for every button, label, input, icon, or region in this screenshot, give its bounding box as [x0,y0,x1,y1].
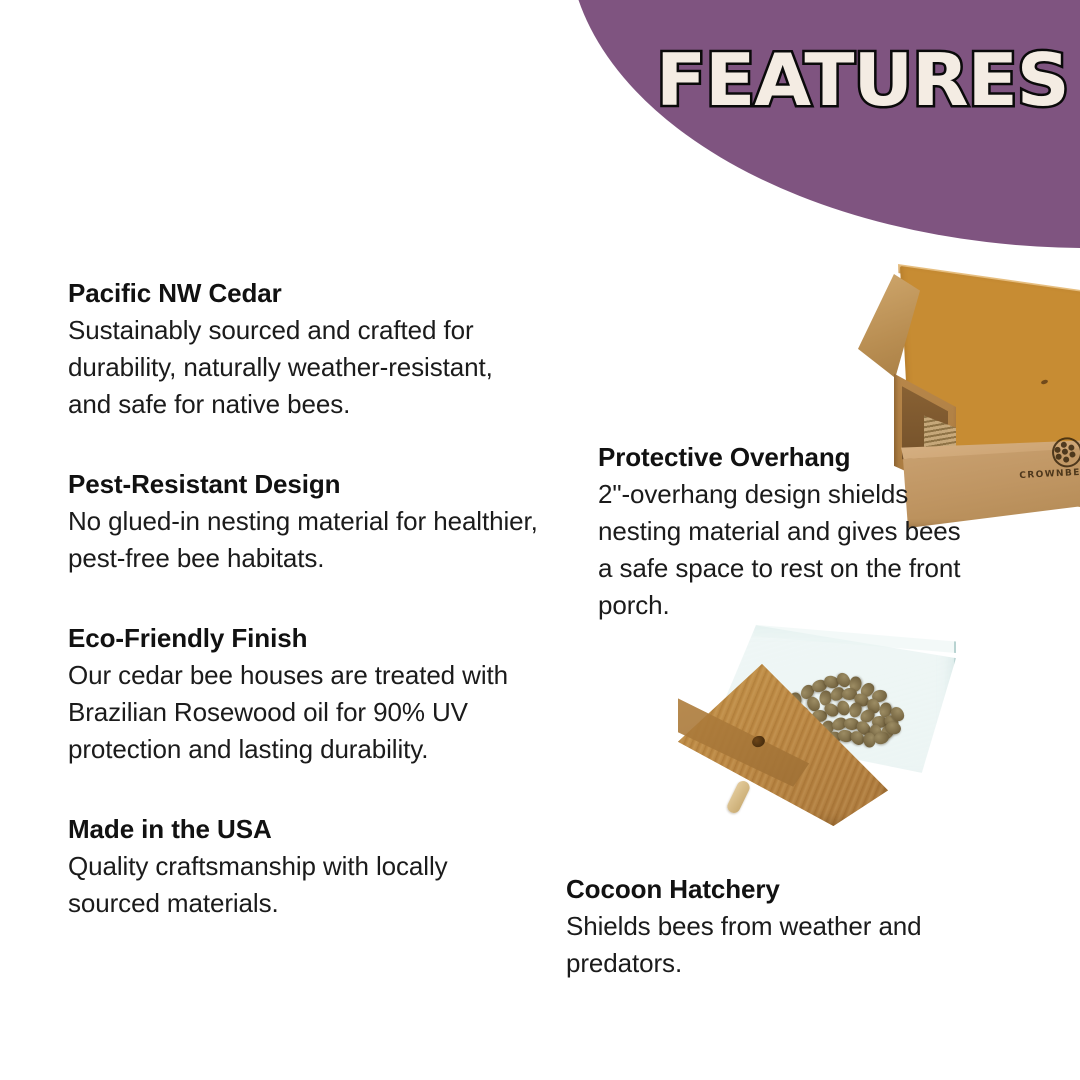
feature-block-made-in-the-usa: Made in the USA Quality craftsmanship wi… [68,812,538,922]
feature-heading: Pacific NW Cedar [68,276,538,310]
feature-body: Shields bees from weather and predators. [566,908,986,982]
feature-body: Sustainably sourced and crafted for dura… [68,312,538,423]
feature-heading: Pest-Resistant Design [68,467,538,501]
feature-body: Quality craftsmanship with locally sourc… [68,848,538,922]
page-title: FEATURES [656,44,1064,116]
feature-heading: Made in the USA [68,812,538,846]
feature-block-pest-resistant-design: Pest-Resistant Design No glued-in nestin… [68,467,538,577]
feature-body: No glued-in nesting material for healthi… [68,503,538,577]
feature-heading: Cocoon Hatchery [566,872,986,906]
feature-body: 2"-overhang design shields nesting mater… [598,476,970,624]
hatchery-dowel-peg [725,779,752,815]
feature-block-cocoon-hatchery: Cocoon Hatchery Shields bees from weathe… [566,872,986,982]
feature-heading: Eco-Friendly Finish [68,621,538,655]
brand-wordmark: CROWNBEES [1019,467,1080,481]
left-feature-column: Pacific NW Cedar Sustainably sourced and… [68,276,538,922]
feature-heading: Protective Overhang [598,440,970,474]
feature-block-eco-friendly-finish: Eco-Friendly Finish Our cedar bee houses… [68,621,538,768]
features-page: FEATURES CROWNBEES Pacific NW Cedar [0,0,1080,1080]
feature-block-protective-overhang: Protective Overhang 2"-overhang design s… [598,440,970,624]
feature-block-pacific-nw-cedar: Pacific NW Cedar Sustainably sourced and… [68,276,538,423]
cocoon-hatchery-image [678,612,978,842]
feature-body: Our cedar bee houses are treated with Br… [68,657,538,768]
hexagon-flower-icon [1050,435,1080,469]
